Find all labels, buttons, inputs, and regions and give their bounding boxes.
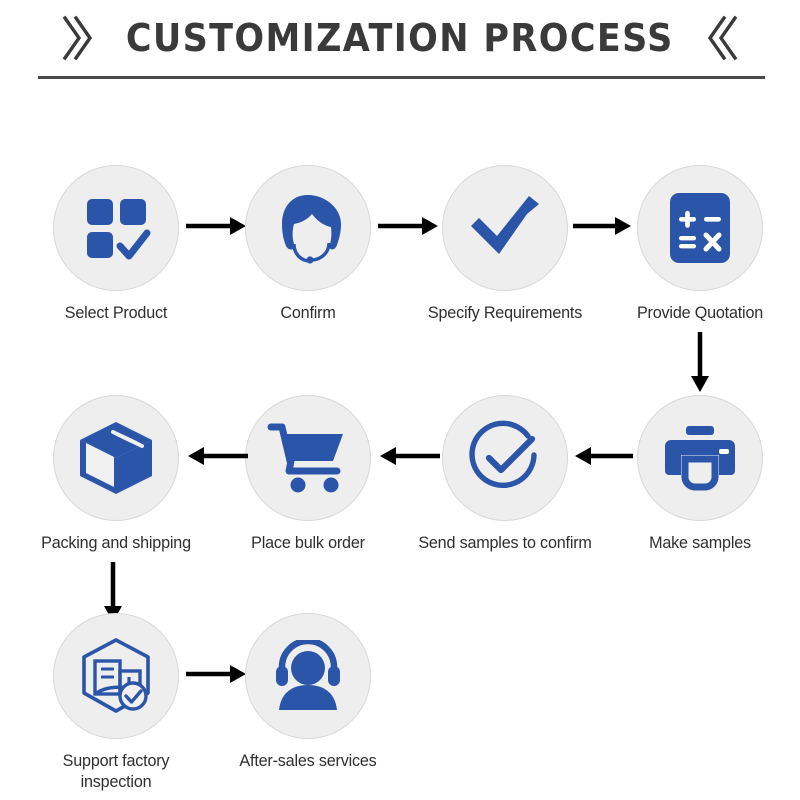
- step-provide-quotation[interactable]: Provide Quotation: [605, 165, 795, 323]
- step-specify-requirements[interactable]: Specify Requirements: [410, 165, 600, 323]
- step-icon-bubble: [442, 395, 568, 521]
- step-place-bulk-order[interactable]: Place bulk order: [213, 395, 403, 553]
- headset-person-icon: [269, 640, 347, 712]
- checkmark-icon: [465, 192, 545, 264]
- step-packing-and-shipping[interactable]: Packing and shipping: [21, 395, 211, 553]
- factory-inspection-icon: [76, 636, 156, 716]
- step-label: Support factory inspection: [26, 750, 207, 793]
- step-after-sales-services[interactable]: After-sales services: [213, 613, 403, 771]
- step-select-product[interactable]: Select Product: [21, 165, 211, 323]
- step-confirm[interactable]: Confirm: [213, 165, 403, 323]
- shopping-cart-icon: [267, 421, 349, 495]
- step-label: Select Product: [26, 302, 207, 323]
- step-icon-bubble: [442, 165, 568, 291]
- headset-agent-icon: [269, 189, 347, 267]
- package-box-icon: [76, 419, 156, 497]
- step-icon-bubble: [53, 395, 179, 521]
- step-label: Confirm: [218, 302, 399, 323]
- step-icon-bubble: [245, 613, 371, 739]
- step-icon-bubble: [53, 165, 179, 291]
- step-support-factory-inspection[interactable]: Support factory inspection: [21, 613, 211, 793]
- step-label: Send samples to confirm: [415, 532, 596, 553]
- step-icon-bubble: [245, 165, 371, 291]
- step-label: Specify Requirements: [415, 302, 596, 323]
- step-send-samples-to-confirm[interactable]: Send samples to confirm: [410, 395, 600, 553]
- calculator-icon: [666, 189, 734, 267]
- step-label: Packing and shipping: [26, 532, 207, 553]
- step-icon-bubble: [245, 395, 371, 521]
- process-flow: Select Product Confirm: [0, 0, 800, 800]
- step-icon-bubble: [53, 613, 179, 739]
- printer-icon: [661, 423, 739, 493]
- connector-arrow-down-right: [687, 332, 713, 394]
- step-label: Place bulk order: [218, 532, 399, 553]
- grid-check-icon: [79, 191, 153, 265]
- step-icon-bubble: [637, 395, 763, 521]
- step-label: Provide Quotation: [610, 302, 791, 323]
- step-make-samples[interactable]: Make samples: [605, 395, 795, 553]
- step-label: After-sales services: [218, 750, 399, 771]
- step-icon-bubble: [637, 165, 763, 291]
- circle-check-icon: [466, 419, 544, 497]
- step-label: Make samples: [610, 532, 791, 553]
